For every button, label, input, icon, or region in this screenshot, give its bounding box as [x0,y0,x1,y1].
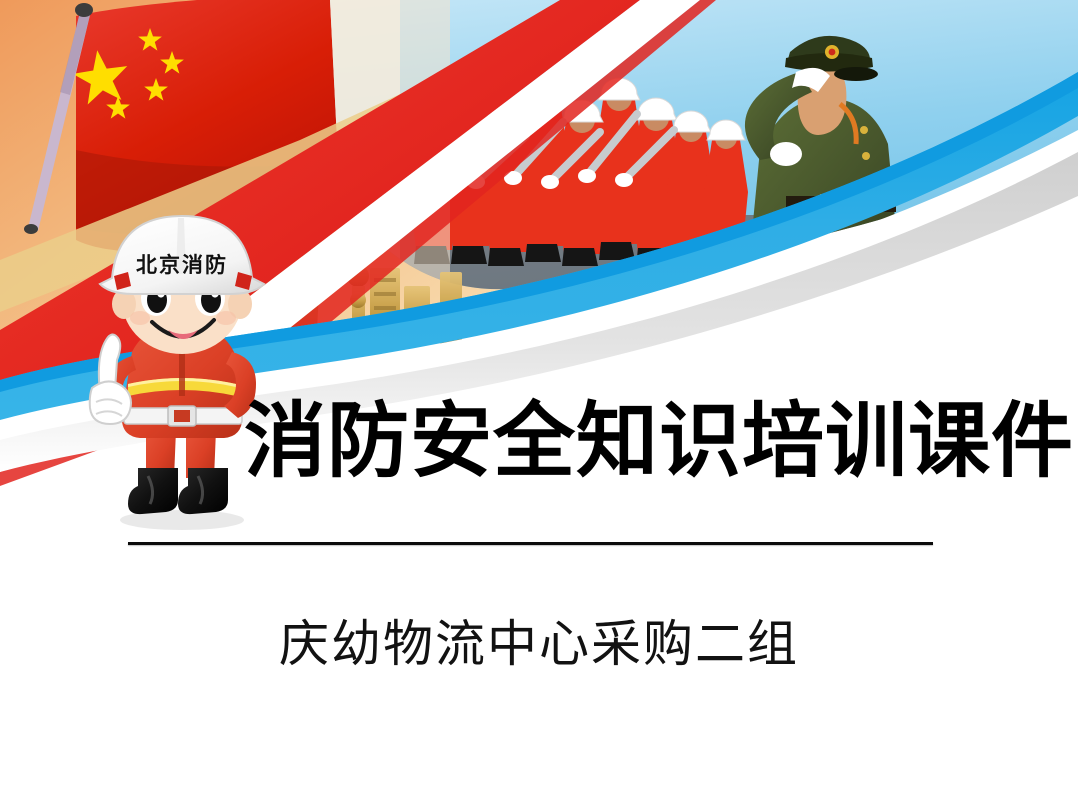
title-divider-line [128,542,933,545]
helmet-text: 北京消防 [136,253,228,277]
slide-title: 消防安全知识培训课件 [244,392,1044,492]
slide-subtitle: 庆幼物流中心采购二组 [0,612,1078,676]
presentation-slide: 北京消防 消防安全知识培训课件 庆幼物流中心采购二组 [0,0,1078,807]
